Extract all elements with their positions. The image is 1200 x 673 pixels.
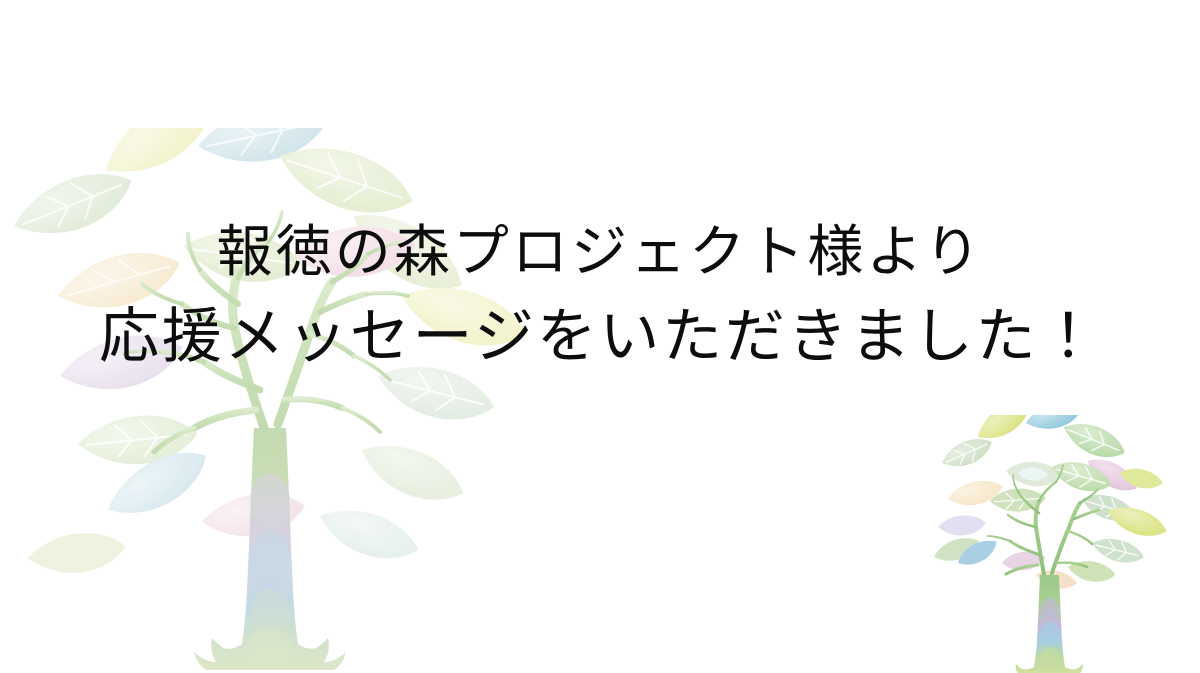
headline-line-1: 報徳の森プロジェクト様より bbox=[0, 212, 1200, 294]
slide-canvas: 報徳の森プロジェクト様より 応援メッセージをいただきました！ bbox=[0, 0, 1200, 673]
watercolor-tree-small-illustration bbox=[930, 415, 1178, 673]
headline-line-2: 応援メッセージをいただきました！ bbox=[0, 294, 1200, 380]
watercolor-tree-large-illustration bbox=[2, 128, 542, 673]
headline-text-block: 報徳の森プロジェクト様より 応援メッセージをいただきました！ bbox=[0, 212, 1200, 380]
